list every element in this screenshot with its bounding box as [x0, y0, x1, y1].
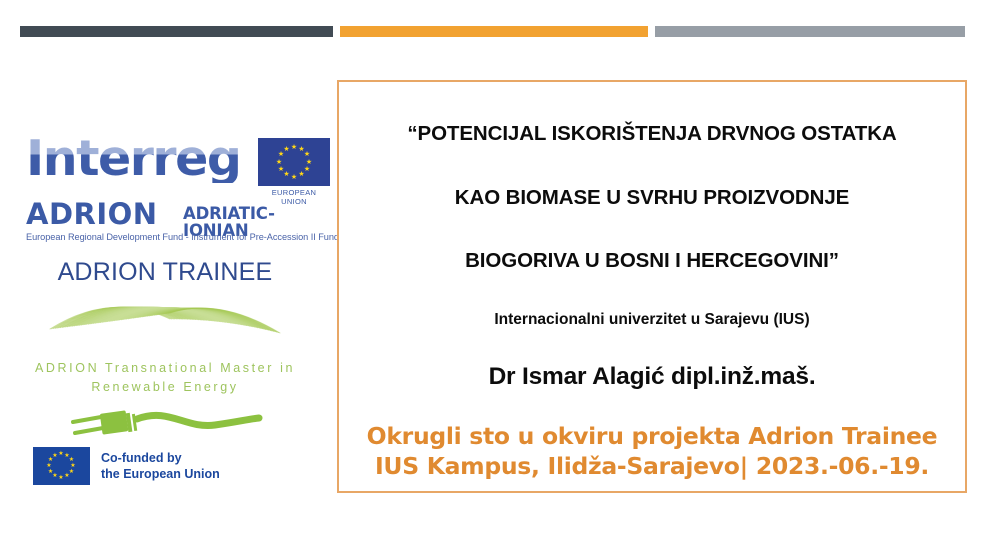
interreg-wordmark: Interreg	[26, 134, 240, 183]
eu-flag-icon-cofunded: ★★★★★★★★★★★★	[33, 447, 90, 485]
presentation-title-line-3: BIOGORIVA U BOSNI I HERCEGOVINI”	[365, 251, 939, 272]
institution-name: Internacionalni univerzitet u Sarajevu (…	[365, 312, 939, 328]
author-name: Dr Ismar Alagić dipl.inž.maš.	[365, 365, 939, 390]
tagline-line-1: ADRION Transnational Master in	[0, 359, 330, 378]
rule-segment-dark	[20, 26, 333, 37]
eu-cofunded-logo: ★★★★★★★★★★★★ Co-funded by the European U…	[33, 447, 220, 485]
logo-column: Interreg ★★★★★★★★★★★★ EUROPEAN UNION ADR…	[0, 120, 330, 520]
event-line-1: Okrugli sto u okviru projekta Adrion Tra…	[365, 421, 939, 451]
interreg-adrion-logo: Interreg ★★★★★★★★★★★★ EUROPEAN UNION ADR…	[0, 120, 330, 232]
tagline-line-2: Renewable Energy	[0, 378, 330, 397]
rule-segment-orange	[340, 26, 648, 37]
presentation-title-card: “POTENCIJAL ISKORIŠTENJA DRVNOG OSTATKA …	[337, 80, 967, 493]
rule-segment-gray	[655, 26, 965, 37]
cofunded-line-2: the European Union	[101, 466, 220, 483]
cofunded-line-1: Co-funded by	[101, 450, 220, 467]
event-line-2: IUS Kampus, Ilidža-Sarajevo| 2023.-06.-1…	[365, 451, 939, 481]
eu-cofunded-text: Co-funded by the European Union	[101, 450, 220, 483]
interreg-fineprint: European Regional Development Fund - Ins…	[26, 232, 326, 242]
green-wing-swoosh-icon	[40, 289, 290, 345]
interreg-programme-row: ADRION ADRIATIC-IONIAN	[0, 200, 330, 232]
eu-flag-icon: ★★★★★★★★★★★★	[258, 138, 330, 186]
interreg-programme-label: ADRION	[26, 200, 158, 229]
adrion-trainee-logo: ADRION TRAINEE ADRION Transnational Mast…	[0, 258, 330, 437]
eu-flag-block: ★★★★★★★★★★★★ EUROPEAN UNION	[258, 138, 330, 206]
event-details: Okrugli sto u okviru projekta Adrion Tra…	[365, 421, 939, 481]
adrion-trainee-tagline: ADRION Transnational Master in Renewable…	[0, 359, 330, 397]
top-decorative-rule	[0, 26, 995, 37]
presentation-title-line-1: “POTENCIJAL ISKORIŠTENJA DRVNOG OSTATKA	[365, 124, 939, 145]
green-plug-cable-icon	[65, 403, 265, 437]
adrion-trainee-title: ADRION TRAINEE	[0, 258, 330, 287]
presentation-title-line-2: KAO BIOMASE U SVRHU PROIZVODNJE	[365, 188, 939, 209]
interreg-wordmark-row: Interreg ★★★★★★★★★★★★ EUROPEAN UNION	[0, 120, 330, 198]
